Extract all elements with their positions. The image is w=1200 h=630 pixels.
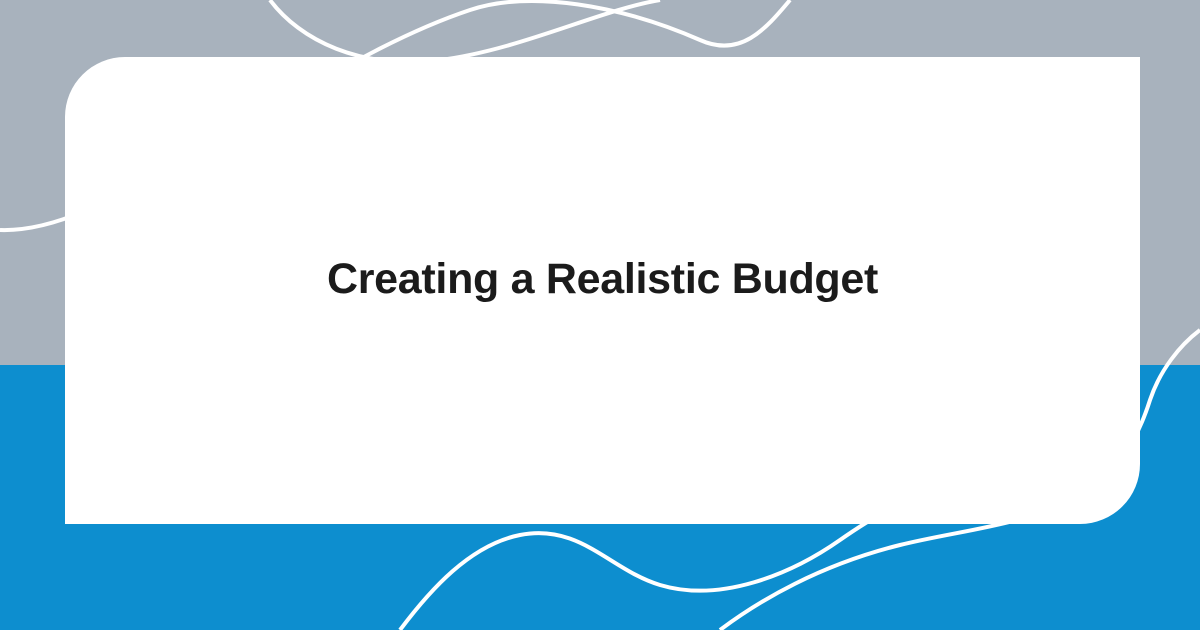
banner-canvas: Creating a Realistic Budget (0, 0, 1200, 630)
page-title: Creating a Realistic Budget (65, 252, 1140, 308)
title-card: Creating a Realistic Budget (65, 57, 1140, 524)
